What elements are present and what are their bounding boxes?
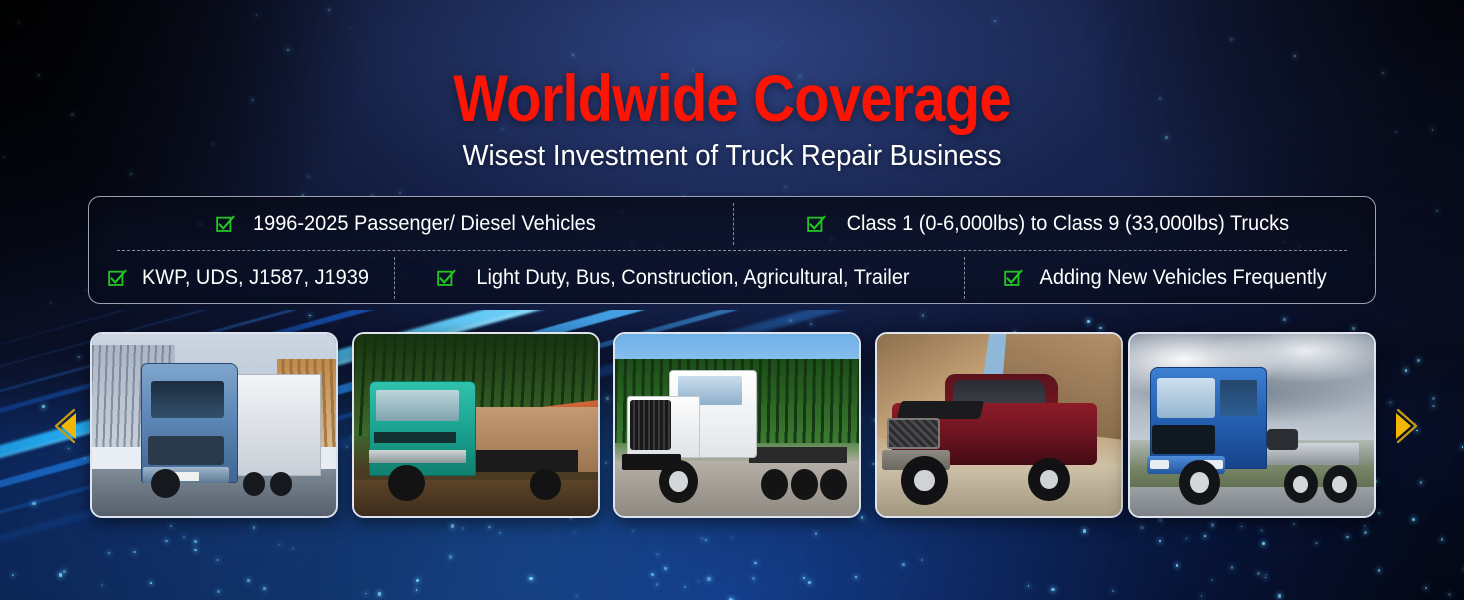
feature-row-bottom: KWP, UDS, J1587, J1939 Light Duty, Bus, …	[89, 251, 1375, 304]
slide-image-teal-cabover-truck	[354, 334, 598, 516]
page-subtitle: Wisest Investment of Truck Repair Busine…	[37, 138, 1428, 174]
carousel-slide[interactable]	[90, 332, 338, 518]
check-box-icon	[216, 215, 235, 234]
feature-item-label: KWP, UDS, J1587, J1939	[142, 265, 369, 291]
feature-item-label: Adding New Vehicles Frequently	[1040, 265, 1327, 291]
carousel-slide[interactable]	[1128, 332, 1376, 518]
carousel-slide[interactable]	[613, 332, 861, 518]
feature-item-label: 1996-2025 Passenger/ Diesel Vehicles	[253, 211, 596, 237]
chevron-right-icon	[1376, 396, 1436, 456]
chevron-left-icon	[36, 396, 96, 456]
check-box-icon	[437, 269, 456, 288]
check-box-icon	[807, 215, 826, 234]
slide-image-white-chassis-truck	[615, 334, 859, 516]
feature-item-vehicle-years: 1996-2025 Passenger/ Diesel Vehicles	[89, 197, 732, 251]
feature-item-label: Class 1 (0-6,000lbs) to Class 9 (33,000l…	[846, 211, 1288, 237]
slide-image-blue-tractor-unit	[1130, 334, 1374, 516]
carousel-next-button[interactable]	[1376, 396, 1436, 456]
slide-image-electric-semi-truck	[92, 334, 336, 516]
vehicle-image-carousel[interactable]	[0, 332, 1464, 524]
carousel-slide[interactable]	[875, 332, 1123, 518]
worldwide-coverage-banner: Worldwide Coverage Wisest Investment of …	[0, 0, 1464, 600]
feature-row-top: 1996-2025 Passenger/ Diesel Vehicles Cla…	[89, 197, 1375, 251]
feature-item-truck-classes: Class 1 (0-6,000lbs) to Class 9 (33,000l…	[732, 197, 1375, 251]
check-box-icon	[108, 269, 127, 288]
carousel-prev-button[interactable]	[36, 396, 96, 456]
page-title: Worldwide Coverage	[88, 62, 1376, 134]
feature-item-protocols: KWP, UDS, J1587, J1939	[89, 251, 394, 304]
carousel-slide[interactable]	[352, 332, 600, 518]
feature-item-new-vehicles: Adding New Vehicles Frequently	[964, 251, 1375, 304]
slide-image-red-pickup-truck	[877, 334, 1121, 516]
feature-item-label: Light Duty, Bus, Construction, Agricultu…	[476, 265, 909, 291]
feature-list-box: 1996-2025 Passenger/ Diesel Vehicles Cla…	[88, 196, 1376, 304]
feature-item-vehicle-types: Light Duty, Bus, Construction, Agricultu…	[394, 251, 964, 304]
check-box-icon	[1004, 269, 1023, 288]
